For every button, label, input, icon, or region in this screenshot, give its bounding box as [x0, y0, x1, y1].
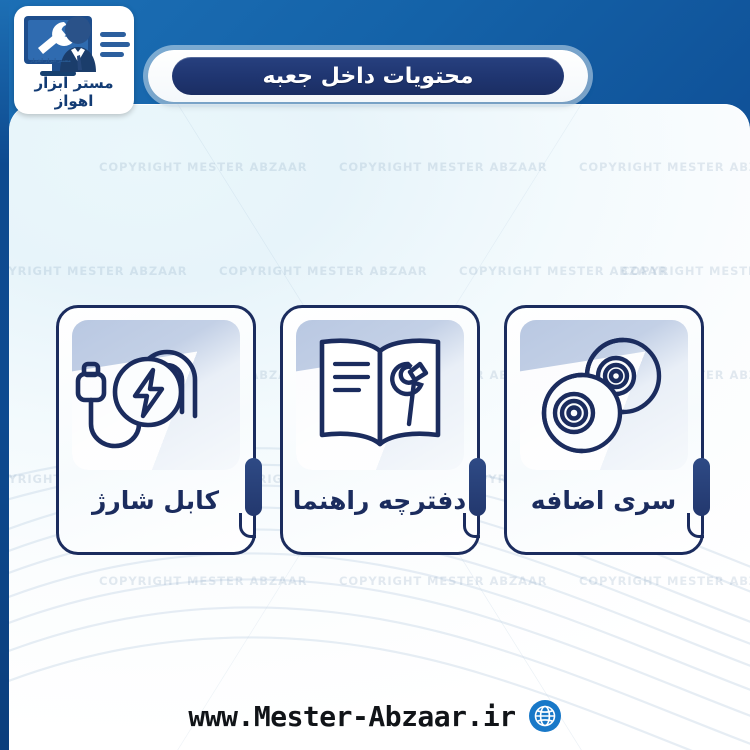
- logo-badge-text: مستر ابزار اهواز: [30, 58, 71, 64]
- title-pill-outer: محتویات داخل جعبه: [148, 50, 588, 102]
- left-accent-strip: [0, 0, 9, 750]
- card-image-charging-cable: [72, 320, 240, 470]
- logo-caption: مستر ابزار اهواز: [14, 74, 134, 110]
- brand-logo[interactable]: مستر ابزار اهواز مستر ابزار اهواز: [14, 6, 134, 114]
- ear-tips-icon: [520, 320, 688, 470]
- feature-card-row: سری اضافه: [9, 305, 750, 560]
- website-url[interactable]: www.Mester-Abzaar.ir: [188, 700, 515, 733]
- card-label-charging-cable: کابل شارژ: [59, 486, 253, 515]
- feature-card-charging-cable[interactable]: کابل شارژ: [56, 305, 256, 555]
- watermark-text: COPYRIGHT MESTER ABZAAR: [339, 160, 548, 174]
- card-label-manual: دفترچه راهنما: [283, 486, 477, 515]
- card-bookmark-tail: [239, 513, 256, 538]
- card-image-manual: [296, 320, 464, 470]
- watermark-text: COPYRIGHT MESTER ABZAAR: [459, 264, 668, 278]
- card-bookmark-tab: [469, 458, 486, 516]
- card-image-ear-tips: [520, 320, 688, 470]
- card-label-ear-tips: سری اضافه: [507, 486, 701, 515]
- globe-icon[interactable]: [528, 699, 562, 733]
- watermark-text: COPYRIGHT MESTER ABZAAR: [99, 160, 308, 174]
- card-bookmark-tab: [693, 458, 710, 516]
- watermark-text: COPYRIGHT MESTER ABZAAR: [219, 264, 428, 278]
- feature-card-manual[interactable]: دفترچه راهنما: [280, 305, 480, 555]
- card-bookmark-tail: [687, 513, 704, 538]
- footer-bar: www.Mester-Abzaar.ir: [0, 694, 750, 738]
- card-bookmark-tail: [463, 513, 480, 538]
- watermark-text: COPYRIGHT MESTER ABZAAR: [9, 264, 188, 278]
- manual-book-wrench-icon: [296, 320, 464, 470]
- poster-canvas: COPYRIGHT MESTER ABZAAR COPYRIGHT MESTER…: [0, 0, 750, 750]
- watermark-text: COPYRIGHT MESTER ABZAAR: [579, 160, 750, 174]
- feature-card-ear-tips[interactable]: سری اضافه: [504, 305, 704, 555]
- title-pill-inner: محتویات داخل جعبه: [172, 57, 564, 95]
- watermark-text: COPYRIGHT MESTER ABZAAR: [621, 264, 750, 278]
- page-title: محتویات داخل جعبه: [262, 64, 473, 89]
- card-bookmark-tab: [245, 458, 262, 516]
- charging-cable-icon: [72, 320, 240, 470]
